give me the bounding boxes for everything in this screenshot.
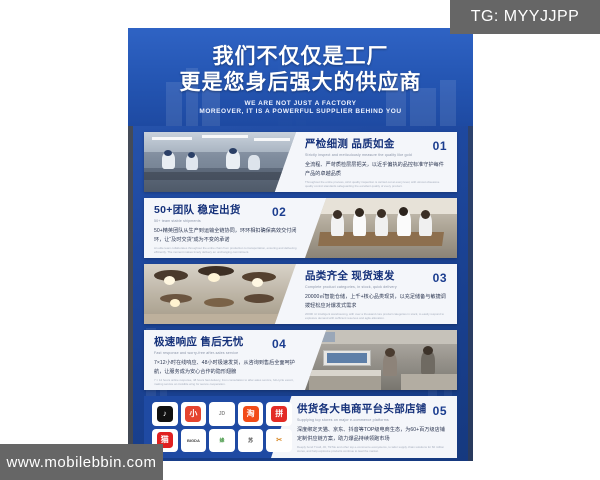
- feature-subheading: 50+ team stable shipments: [154, 219, 302, 223]
- feature-subheading: Fast response and worry-free after-sales…: [154, 351, 302, 355]
- poster-subtitle-line2: MOREOVER, IT IS A POWERFUL SUPPLIER BEHI…: [199, 108, 401, 115]
- feature-text-02: 50+团队 稳定出货 50+ team stable shipments 50+…: [144, 198, 312, 258]
- poster-header: 我们不仅仅是工厂 更是您身后强大的供应商 WE ARE NOT JUST A F…: [128, 28, 473, 126]
- icon-glyph: 淘: [243, 406, 259, 422]
- team-meeting-photo: [305, 198, 457, 258]
- feature-heading: 品类齐全 现货速发: [305, 271, 447, 283]
- feature-row-04: 极速响应 售后无忧 Fast response and worry-free a…: [144, 330, 457, 390]
- feature-number-02: 02: [272, 205, 286, 219]
- feature-row-01: 严检细测 品质如金 Strictly inspect and meticulou…: [144, 132, 457, 192]
- suning-icon[interactable]: 苏: [238, 429, 264, 453]
- feature-text-05: 供货各大电商平台头部店铺 Supplying top stores on maj…: [279, 396, 457, 458]
- feature-number-05: 05: [433, 404, 447, 418]
- feature-text-04: 极速响应 售后无忧 Fast response and worry-free a…: [144, 330, 312, 390]
- feature-body-en: 7 × 12 hours online response, 48 hours f…: [154, 379, 302, 387]
- icon-glyph: BIGDA: [187, 438, 200, 443]
- feature-body-en: Throughout the entire process, strict qu…: [305, 181, 447, 189]
- feature-row-05: ♪ 小 JD 淘 拼 猫 BIGDA 蜂 苏 ✂ 供货各大电商平台头部店铺 Su…: [144, 396, 457, 458]
- icon-glyph: 小: [185, 406, 201, 422]
- feature-body-en: Deeply bond Tmall, JD, TikTok and other …: [297, 446, 447, 454]
- feature-body: 深度绑定天猫、京东、抖音等TOP级电商生态，为60+百万级店铺定制供应链方案，助…: [297, 426, 447, 443]
- telegram-watermark: TG: MYYJJPP: [450, 0, 600, 34]
- feature-number-04: 04: [272, 337, 286, 351]
- feature-row-02: 50+团队 稳定出货 50+ team stable shipments 50+…: [144, 198, 457, 258]
- feature-row-03: 品类齐全 现货速发 Complete product categories, i…: [144, 264, 457, 324]
- feature-body: 20000㎡智能仓储，上千+核心品类现货，以充足储备与敏捷调拨轻松应对爆发式需求: [305, 293, 447, 310]
- mifeng-brand-icon[interactable]: 蜂: [209, 429, 235, 453]
- xiaohongshu-icon[interactable]: 小: [181, 402, 207, 426]
- feature-subheading: Complete product categories, in stock, q…: [305, 285, 447, 289]
- jd-logo-icon[interactable]: JD: [209, 402, 235, 426]
- douyin-tiktok-icon[interactable]: ♪: [152, 402, 178, 426]
- supplier-poster: 我们不仅仅是工厂 更是您身后强大的供应商 WE ARE NOT JUST A F…: [128, 28, 473, 461]
- poster-title-line1: 我们不仅仅是工厂: [213, 45, 389, 70]
- ceiling-fans-warehouse-photo: [144, 264, 296, 324]
- feature-heading: 严检细测 品质如金: [305, 139, 447, 151]
- feature-heading: 供货各大电商平台头部店铺: [297, 404, 447, 416]
- poster-title-line2: 更是您身后强大的供应商: [180, 70, 422, 96]
- bigda-brand-icon[interactable]: BIGDA: [181, 429, 207, 453]
- feature-subheading: Strictly inspect and meticulously measur…: [305, 153, 447, 157]
- feature-subheading: Supplying top stores on major e-commerce…: [297, 418, 447, 422]
- factory-inspection-lab-photo: [144, 132, 296, 192]
- feature-number-01: 01: [433, 139, 447, 153]
- feature-body: 全流程、严苛质检层层把关，以近乎偏执的品控标准守护每件产品的卓越品质: [305, 161, 447, 178]
- poster-subtitle-line1: WE ARE NOT JUST A FACTORY: [245, 100, 357, 107]
- taobao-icon[interactable]: 淘: [238, 402, 264, 426]
- icon-glyph: 蜂: [219, 437, 224, 444]
- icon-glyph: ♪: [157, 406, 173, 422]
- ecommerce-platform-icon-grid: ♪ 小 JD 淘 拼 猫 BIGDA 蜂 苏 ✂: [152, 402, 292, 452]
- feature-body: 7×12小时在线响应、48小时极速发货，从咨询到售后全面呵护航，让服务成为安心合…: [154, 359, 302, 376]
- office-workstations-photo: [305, 330, 457, 390]
- icon-glyph: 苏: [248, 437, 253, 444]
- feature-body-en: 20000 m² intelligent warehousing, with o…: [305, 313, 447, 321]
- feature-number-03: 03: [433, 271, 447, 285]
- feature-body: 50+精英团队从生产到运输全链协同，环环相扣确保高效交付闭环，让“及时交货”成为…: [154, 227, 302, 244]
- feature-body-en: An elite team collaborates throughout th…: [154, 247, 302, 255]
- website-watermark: www.mobilebbin.com: [0, 444, 163, 480]
- icon-glyph: JD: [219, 411, 225, 417]
